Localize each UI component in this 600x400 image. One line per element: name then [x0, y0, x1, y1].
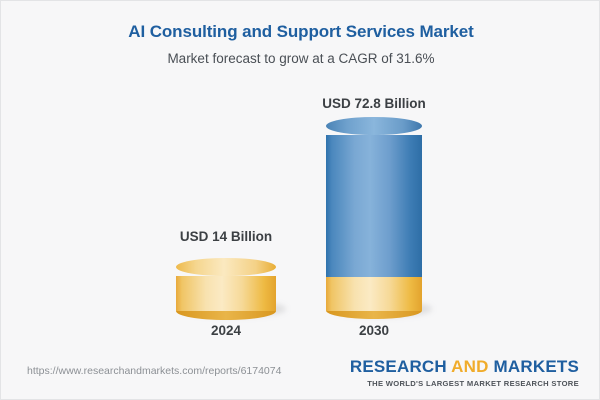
- cylinder-base-segment-2030: [326, 277, 422, 311]
- cylinder-body-2024: [176, 276, 276, 311]
- cylinder-2030: [326, 126, 422, 311]
- brand-logo: RESEARCH AND MARKETS THE WORLD'S LARGEST…: [350, 357, 579, 388]
- logo-word-markets: MARKETS: [489, 357, 579, 376]
- chart-header: AI Consulting and Support Services Marke…: [1, 21, 600, 68]
- bar-group-2030: USD 72.8 Billion 2030: [264, 96, 484, 346]
- logo-word-and: AND: [451, 357, 488, 376]
- bar-category-label-2030: 2030: [264, 323, 484, 338]
- logo-word-research: RESEARCH: [350, 357, 451, 376]
- cylinder-top-2030: [326, 117, 422, 135]
- infographic-card: AI Consulting and Support Services Marke…: [0, 0, 600, 400]
- page-title: AI Consulting and Support Services Marke…: [1, 21, 600, 43]
- cylinder-2024: [176, 267, 276, 311]
- source-url[interactable]: https://www.researchandmarkets.com/repor…: [27, 365, 281, 377]
- bar-value-label-2030: USD 72.8 Billion: [264, 96, 484, 111]
- logo-wordmark: RESEARCH AND MARKETS: [350, 357, 579, 377]
- chart-subtitle: Market forecast to grow at a CAGR of 31.…: [1, 50, 600, 68]
- cylinder-growth-segment-2030: [326, 135, 422, 277]
- chart-footer: https://www.researchandmarkets.com/repor…: [1, 347, 600, 399]
- logo-tagline: THE WORLD'S LARGEST MARKET RESEARCH STOR…: [350, 379, 579, 388]
- chart-plot-area: USD 14 Billion 2024 USD 72.8 Billion: [1, 96, 600, 346]
- cylinder-top-2024: [176, 258, 276, 276]
